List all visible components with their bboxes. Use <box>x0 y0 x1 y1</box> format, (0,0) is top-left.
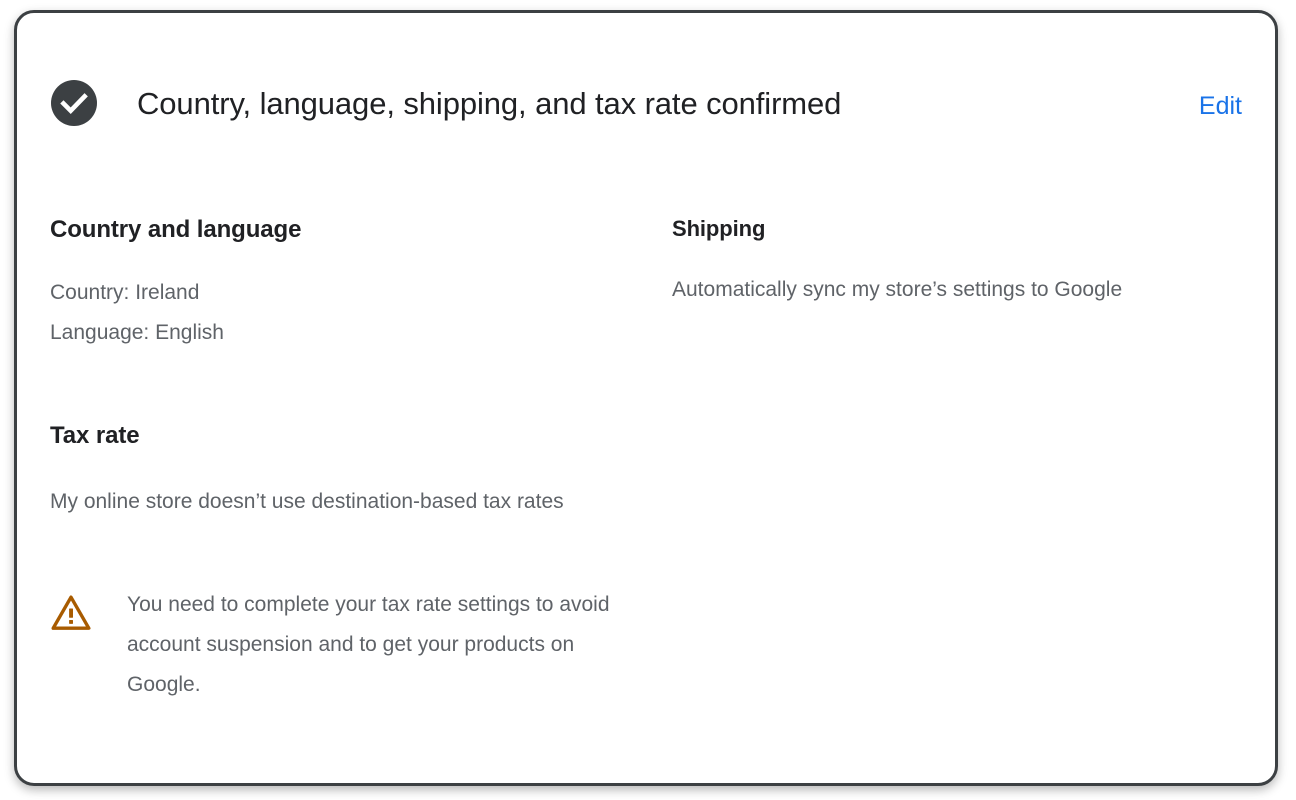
tax-rate-section: Tax rate My online store doesn’t use des… <box>50 421 610 522</box>
screen: Country, language, shipping, and tax rat… <box>0 0 1296 800</box>
confirmation-card: Country, language, shipping, and tax rat… <box>14 10 1278 786</box>
page-title: Country, language, shipping, and tax rat… <box>137 83 841 125</box>
tax-rate-value: My online store doesn’t use destination-… <box>50 481 580 522</box>
tax-rate-heading: Tax rate <box>50 421 610 451</box>
warning-message: You need to complete your tax rate setti… <box>127 585 610 705</box>
warning-triangle-icon <box>50 593 92 633</box>
country-value: Country: Ireland <box>50 281 199 304</box>
language-value: Language: English <box>50 321 224 344</box>
country-language-heading: Country and language <box>50 215 610 245</box>
edit-button[interactable]: Edit <box>1199 90 1242 122</box>
shipping-heading: Shipping <box>672 215 1217 243</box>
check-circle-icon <box>51 80 97 126</box>
country-language-section: Country and language Country: Ireland La… <box>50 215 610 353</box>
card-body: Country and language Country: Ireland La… <box>17 163 1275 783</box>
country-language-values: Country: Ireland Language: English <box>50 273 610 353</box>
shipping-value: Automatically sync my store’s settings t… <box>672 269 1207 310</box>
card-header: Country, language, shipping, and tax rat… <box>17 13 1275 163</box>
tax-rate-warning: You need to complete your tax rate setti… <box>50 585 610 705</box>
shipping-section: Shipping Automatically sync my store’s s… <box>672 215 1217 310</box>
